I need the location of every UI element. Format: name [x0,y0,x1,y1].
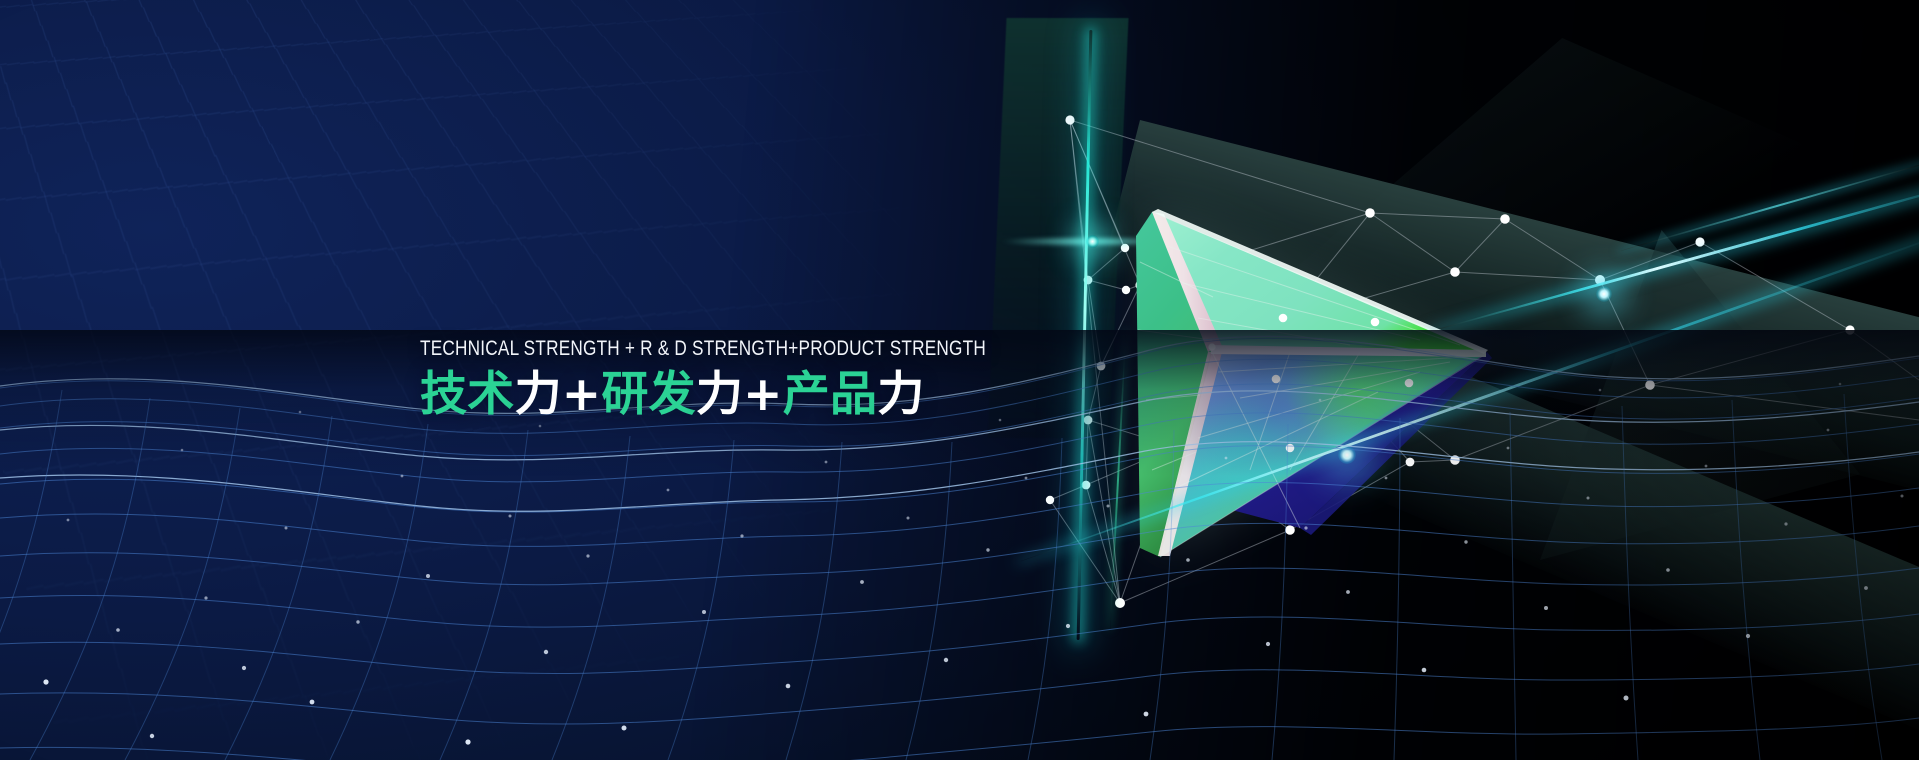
title-part-5: 力 [696,367,743,422]
title-part-7: 产品 [783,367,877,422]
title-part-6: + [743,367,783,422]
title-part-2: 力 [514,367,561,422]
title-part-1: 技术 [420,367,514,422]
page-title: 技术力+研发力+产品力 [420,370,1127,421]
title-part-4: 研发 [601,367,695,422]
headline-block: TECHNICAL STRENGTH + R & D STRENGTH+PROD… [420,337,1127,420]
diagonal-upper-beam-core [1596,286,1612,302]
title-part-8: 力 [877,367,924,422]
hero-banner: TECHNICAL STRENGTH + R & D STRENGTH+PROD… [0,0,1919,760]
title-part-3: + [562,367,602,422]
eyebrow-text: TECHNICAL STRENGTH + R & D STRENGTH+PROD… [420,337,986,361]
